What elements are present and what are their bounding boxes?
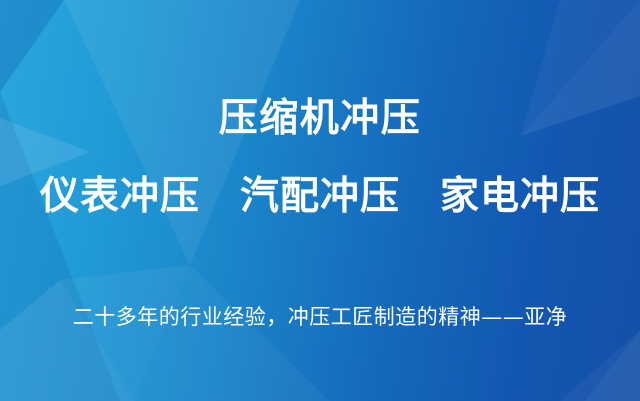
headline-secondary: 仪表冲压 汽配冲压 家电冲压: [0, 176, 640, 219]
promo-banner: 压缩机冲压 仪表冲压 汽配冲压 家电冲压 二十多年的行业经验，冲压工匠制造的精神…: [0, 0, 640, 401]
headline-primary: 压缩机冲压: [0, 98, 640, 141]
banner-subtitle: 二十多年的行业经验，冲压工匠制造的精神——亚净: [0, 305, 640, 330]
banner-content: 压缩机冲压 仪表冲压 汽配冲压 家电冲压 二十多年的行业经验，冲压工匠制造的精神…: [0, 0, 640, 401]
